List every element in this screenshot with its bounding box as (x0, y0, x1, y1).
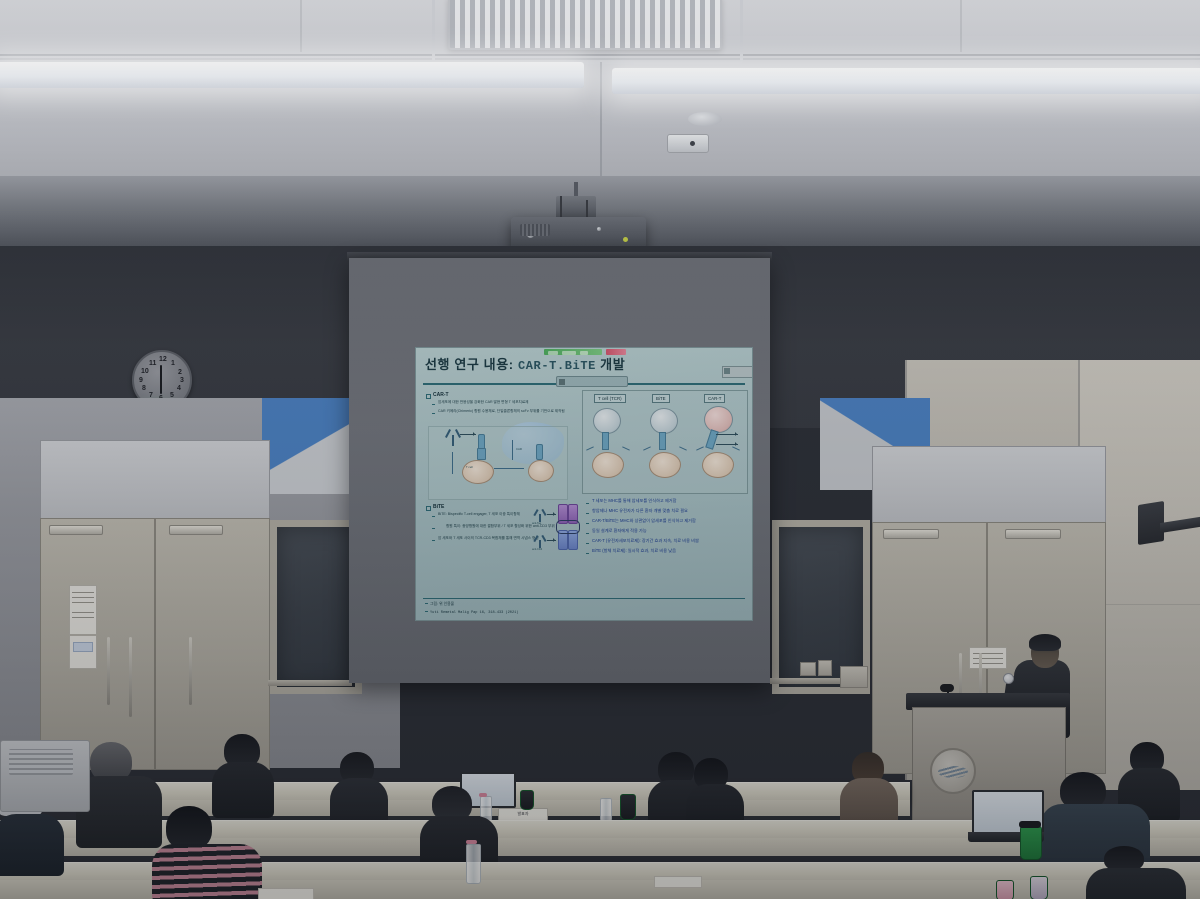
handout-paper (654, 876, 702, 888)
right-bullet-1: T 세포는 MHC를 통해 암세포를 인식하고 제거함 (592, 499, 677, 504)
bite-bridge-icon (659, 432, 666, 450)
door-closer-icon (49, 525, 103, 535)
target-cell-icon (649, 452, 681, 478)
door-handle[interactable] (189, 637, 192, 705)
equipment-box (818, 660, 832, 676)
clock-numeral: 11 (149, 360, 156, 367)
anti-cd3-icon (534, 534, 546, 548)
bullet-car-t-1: 암세포에 대한 반응성을 강화한 CAR 발현 변형 T 세포치료제 (438, 401, 528, 405)
door-closer-icon (883, 529, 939, 539)
clock-numeral: 4 (177, 385, 181, 392)
cabinet-grille (9, 749, 73, 775)
green-tumbler (1020, 826, 1042, 860)
door-closer-icon (1005, 529, 1061, 539)
t-cell-icon (650, 408, 678, 434)
panel-label-tcell: T cell (TCR) (594, 394, 626, 403)
water-bottle (600, 798, 612, 822)
door-notice-blue (69, 635, 97, 669)
ceiling (0, 0, 1200, 182)
receptor-icon (536, 444, 543, 460)
door-notice (69, 585, 97, 635)
anti-tag-icon (534, 508, 546, 522)
presenter-hair (1029, 634, 1061, 651)
ceiling-dome-light (688, 112, 722, 126)
bottle-cap (466, 840, 477, 844)
door-left[interactable] (40, 518, 270, 770)
equipment-box (800, 662, 816, 676)
slide-title-bar: 선행 연구 내용: CAR-T.BiTE 개발 (416, 348, 752, 378)
tcr-icon (602, 432, 609, 450)
slide-title: 선행 연구 내용: CAR-T.BiTE 개발 (425, 354, 625, 373)
transom-left (40, 440, 270, 520)
microphone-head (940, 684, 954, 692)
tumor-cell-icon (462, 460, 494, 484)
thermos-black (620, 794, 636, 820)
clock-numeral: 8 (142, 385, 146, 392)
thermos-black (520, 790, 534, 810)
immune-cell-icon (528, 460, 554, 482)
ceiling-light-right (612, 68, 1200, 94)
slide-corner-tab (722, 366, 753, 378)
air-vent-icon (448, 0, 722, 50)
clock-numeral: 1 (171, 360, 175, 367)
clock-numeral: 2 (178, 369, 182, 376)
shelf-box (840, 666, 868, 688)
chalkboard-tray (268, 680, 352, 686)
slide-subtitle-pill (556, 376, 628, 387)
ceiling-sensor-device (667, 134, 709, 153)
water-bottle (466, 844, 481, 884)
slide-title-ko: 선행 연구 내용: (425, 357, 514, 372)
nameplate-text: 발표자 (499, 811, 547, 817)
right-bullet-3: CAR-T/BiTE는 MHC와 상관없이 암세포를 인식하고 제거함 (592, 519, 696, 524)
section-heading-car-t: CAR-T (433, 392, 449, 398)
projector-vent (520, 224, 550, 236)
t-cell-icon (593, 408, 621, 434)
university-crest-icon (930, 748, 976, 794)
clock-numeral: 3 (180, 377, 184, 384)
can-drink (996, 880, 1014, 899)
door-notice (969, 647, 1007, 669)
section-heading-bite: BiTE (433, 504, 444, 510)
panel-label-bite: BiTE (652, 394, 670, 403)
can-drink (1030, 876, 1048, 899)
target-cell-icon (592, 452, 624, 478)
door-closer-icon (169, 525, 223, 535)
tumbler-lid (1019, 821, 1041, 828)
car-t-cell-icon (704, 406, 733, 433)
antibody-icon (446, 428, 460, 446)
equipment-cabinet (0, 740, 90, 812)
bullet-bite-3: 암 세포와 T 세포 사이의 TCR-CD3 복합체를 통해 면역 시냅스 형성 (438, 537, 539, 541)
receptor-icon (477, 448, 486, 460)
bottle-cap (479, 793, 487, 797)
right-bullet-6: BiTE (항체 치료제): 일시적 효과, 치료 비용 낮음 (592, 549, 676, 554)
panel-label-cart: CAR-T (704, 394, 725, 403)
slide-footer-rule (423, 598, 745, 599)
bullet-bite-1: BiTE: Bispecific T-cell engager, T 세포 이중… (438, 513, 520, 517)
clock-numeral: 9 (139, 377, 143, 384)
target-cell-icon (702, 452, 734, 478)
bite-linker (556, 520, 580, 534)
door-handle[interactable] (107, 637, 110, 705)
right-bullet-4: 동일 설계로 환자에게 적용 가능 (592, 529, 647, 534)
door-handle[interactable] (129, 637, 132, 717)
transom-right (872, 446, 1106, 524)
right-bullet-2: 항암제나 MHC 유전자가 다른 환자 개별 맞춤 치료 필요 (592, 509, 688, 514)
clock-numeral: 10 (141, 368, 149, 375)
reference-2: Yuti Remetal Malig Pap 16, 318-433 (2021… (430, 611, 518, 615)
lecture-hall-photo: 12 1 2 3 4 5 6 7 8 9 10 11 (0, 0, 1200, 899)
bullet-car-t-2: CAR 키메라(Chimeric) 항원 수용체로, 단일클론항체의 scFv … (438, 410, 565, 414)
right-bullet-5: CAR-T (유전자세포치료제): 장기간 효과 지속, 치료 비용 비쌈 (592, 539, 699, 544)
ceiling-light-left (0, 62, 584, 88)
clock-numeral: 12 (159, 356, 167, 363)
slide-title-ko-tail: 개발 (600, 357, 625, 372)
slide-title-en: CAR-T.BiTE (518, 359, 596, 373)
handout-paper (258, 888, 314, 899)
clock-minute-hand (160, 378, 162, 394)
presentation-slide: 선행 연구 내용: CAR-T.BiTE 개발 CAR-T 암세포에 대한 반응… (415, 347, 753, 621)
presenter-badge (1003, 673, 1014, 684)
reference-1: 그림: 위 인용물 (430, 602, 454, 607)
